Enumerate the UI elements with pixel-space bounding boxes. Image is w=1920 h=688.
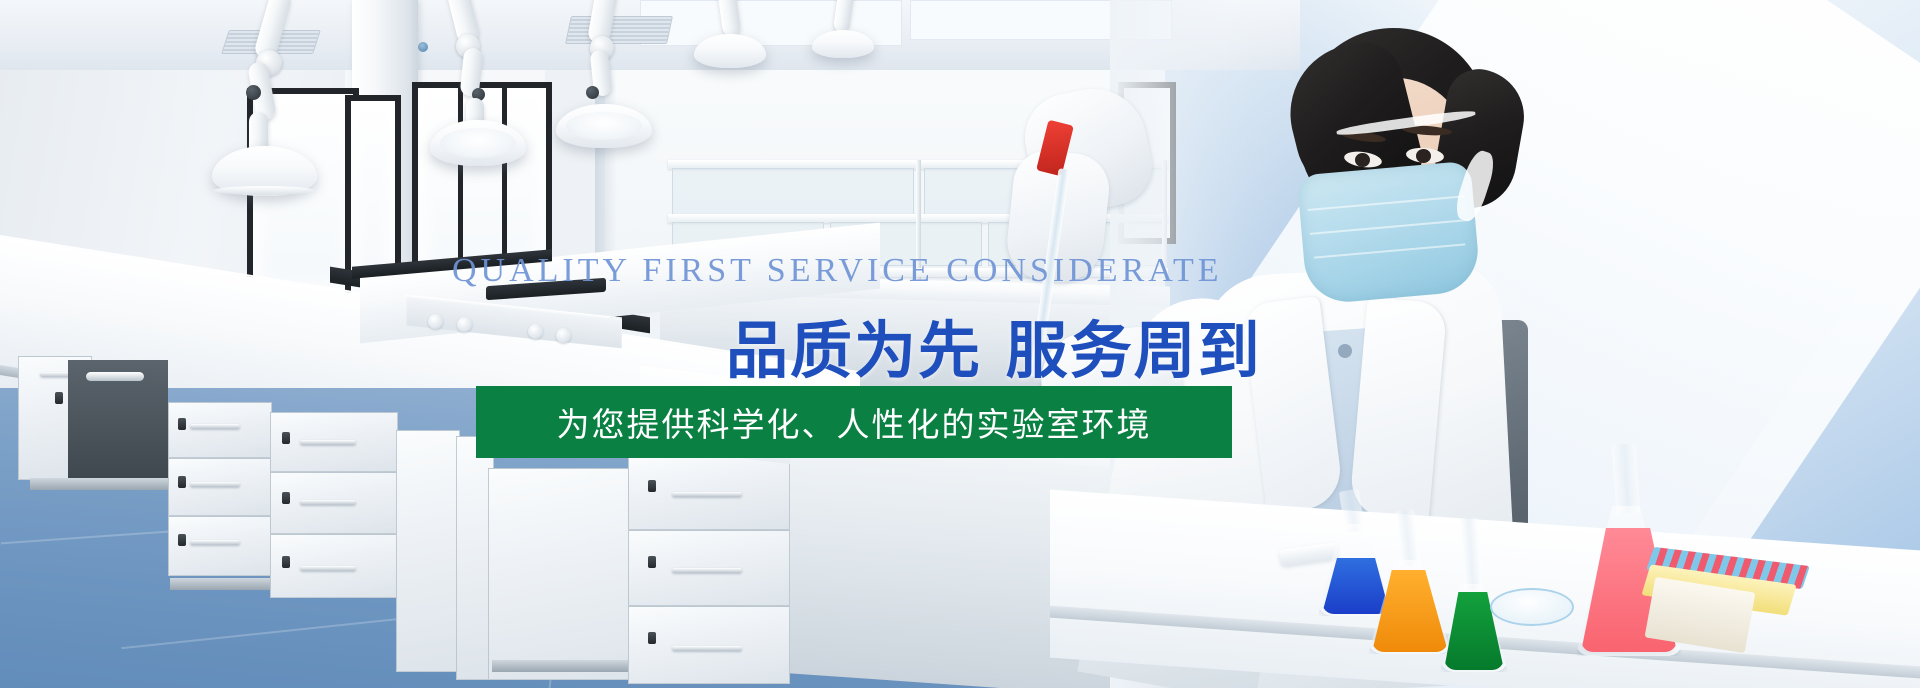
hero-banner: QUALITY FIRST SERVICE CONSIDERATE 品质为先 服… bbox=[0, 0, 1920, 688]
subheadline-bar: 为您提供科学化、人性化的实验室环境 bbox=[476, 386, 1232, 458]
headline: 品质为先 服务周到 bbox=[726, 300, 1262, 390]
subheadline-text: 为您提供科学化、人性化的实验室环境 bbox=[557, 398, 1152, 446]
english-tagline: QUALITY FIRST SERVICE CONSIDERATE bbox=[452, 252, 1223, 290]
banner-copy: QUALITY FIRST SERVICE CONSIDERATE 品质为先 服… bbox=[0, 0, 1920, 688]
